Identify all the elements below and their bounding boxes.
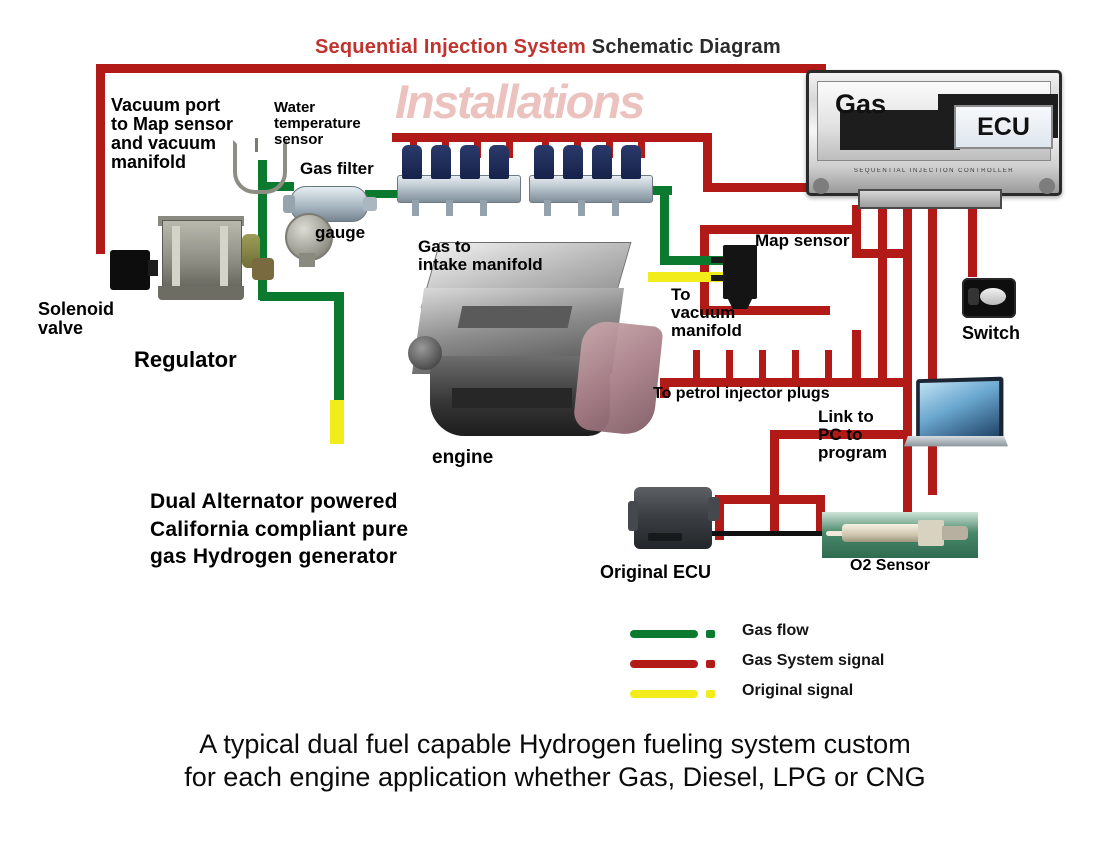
- label-to-vacuum-manifold: To vacuum manifold: [671, 286, 742, 340]
- gas-nozzle-1: [412, 200, 419, 216]
- label-link-to-pc: Link to PC to program: [818, 408, 887, 462]
- gas-injector-6: [563, 145, 583, 179]
- gas-nozzle-2: [446, 200, 453, 216]
- label-to-petrol-injector-plugs: To petrol injector plugs: [653, 386, 830, 403]
- solenoid-valve-photo: [110, 250, 150, 290]
- red-wire-petrol-tap-4: [792, 350, 799, 380]
- ecu-name-label: ECU: [954, 105, 1053, 149]
- red-wire-petrol-tap-1: [693, 350, 700, 380]
- gas-filter-inlet: [283, 195, 295, 213]
- red-wire-oecu-feed-h: [715, 495, 825, 504]
- map-sensor-port-upper: [711, 257, 725, 263]
- ecu-connector-strip: [858, 189, 1002, 209]
- solenoid-stem: [148, 260, 158, 276]
- legend-dot-gas-system-signal: [706, 660, 715, 668]
- engine-accessory-lower: [452, 388, 572, 408]
- caption-dual-alternator: Dual Alternator powered California compl…: [150, 488, 408, 571]
- red-wire-petrol-tap-2: [726, 350, 733, 380]
- engine-pulley: [408, 336, 442, 370]
- legend-dot-original-signal: [706, 690, 715, 698]
- regulator-fitting-nut: [252, 258, 274, 280]
- gas-nozzle-6: [612, 200, 619, 216]
- legend-label-gas-flow: Gas flow: [742, 622, 809, 640]
- regulator-post-left: [172, 226, 180, 288]
- original-ecu-bracket-left: [628, 501, 638, 531]
- black-wire-oecu-to-o2: [705, 531, 825, 536]
- bottom-caption: A typical dual fuel capable Hydrogen fue…: [60, 728, 1050, 794]
- gas-nozzle-4: [544, 200, 551, 216]
- label-solenoid-valve: Solenoid valve: [38, 300, 114, 338]
- legend-label-gas-system-signal: Gas System signal: [742, 652, 884, 670]
- laptop-photo: [908, 378, 1004, 464]
- label-o2-sensor: O2 Sensor: [850, 558, 930, 575]
- laptop-keyboard-base: [904, 436, 1008, 446]
- water-temperature-sensor-photo: [233, 140, 283, 192]
- regulator-post-right: [220, 226, 228, 288]
- gauge-neck: [299, 253, 315, 267]
- title-red-part: Sequential Injection System: [315, 36, 586, 58]
- engine-exhaust-manifold: [572, 319, 663, 437]
- red-wire-petrol-tap-3: [759, 350, 766, 380]
- gas-injector-5: [534, 145, 554, 179]
- watermark-text: Installations: [395, 74, 815, 132]
- gas-injector-8: [621, 145, 641, 179]
- yellow-wire-generator-stub: [330, 400, 344, 444]
- red-wire-ecu-out-switch: [968, 205, 977, 277]
- regulator-base: [158, 286, 244, 300]
- red-wire-oecu-branch-v: [770, 430, 779, 535]
- gas-injector-1: [402, 145, 422, 179]
- red-wire-injector-bus: [392, 133, 712, 142]
- gas-injector-rail-bank-2: [529, 175, 653, 203]
- legend-swatch-gas-system-signal: [630, 660, 698, 668]
- gas-filter-outlet: [363, 197, 377, 211]
- o2-sensor-photo: [822, 512, 978, 558]
- gas-ecu-module[interactable]: Gas ECU SEQUENTIAL INJECTION CONTROLLER: [806, 70, 1062, 196]
- map-sensor-port-lower: [711, 275, 725, 281]
- gas-injector-3: [460, 145, 480, 179]
- red-wire-top-trunk: [96, 64, 826, 73]
- ecu-mount-tab-right: [1039, 178, 1055, 194]
- gas-injector-7: [592, 145, 612, 179]
- schematic-diagram-canvas: Sequential Injection System Schematic Di…: [0, 0, 1103, 842]
- legend: Gas flow Gas System signal Original sign…: [630, 622, 960, 712]
- label-gas-filter: Gas filter: [300, 160, 374, 178]
- wts-clamp: [233, 140, 287, 194]
- red-wire-injector-bus-to-ecu: [703, 183, 818, 192]
- gas-nozzle-3: [480, 200, 487, 216]
- label-engine: engine: [432, 448, 493, 468]
- red-wire-ecu-out-3: [903, 205, 912, 535]
- wts-lead: [255, 138, 258, 152]
- gas-nozzle-5: [578, 200, 585, 216]
- red-wire-ecu-out-2: [878, 205, 887, 385]
- legend-row-gas-system-signal: Gas System signal: [630, 652, 960, 682]
- original-ecu-bracket-right: [708, 497, 719, 521]
- regulator-photo: [148, 216, 278, 312]
- label-gauge: gauge: [315, 224, 365, 242]
- legend-row-original-signal: Original signal: [630, 682, 960, 712]
- o2-sensor-tip: [942, 526, 968, 540]
- switch-photo[interactable]: [962, 278, 1016, 318]
- gas-injector-2: [431, 145, 451, 179]
- original-ecu-photo: [634, 487, 712, 549]
- label-regulator: Regulator: [134, 348, 237, 371]
- gas-injector-4: [489, 145, 509, 179]
- label-water-temperature-sensor: Water temperature sensor: [274, 100, 361, 147]
- label-gas-to-intake-manifold: Gas to intake manifold: [418, 238, 543, 274]
- switch-button[interactable]: [968, 288, 979, 305]
- switch-indicator-led: [980, 288, 1006, 305]
- legend-dot-gas-flow: [706, 630, 715, 638]
- label-switch: Switch: [962, 324, 1020, 343]
- ecu-brand-label: Gas: [835, 89, 886, 120]
- legend-swatch-original-signal: [630, 690, 698, 698]
- legend-swatch-gas-flow: [630, 630, 698, 638]
- red-wire-petrol-tap-5: [825, 350, 832, 380]
- legend-row-gas-flow: Gas flow: [630, 622, 960, 652]
- ecu-footer-text: SEQUENTIAL INJECTION CONTROLLER: [823, 168, 1045, 182]
- original-ecu-connector: [648, 533, 682, 541]
- page-title: Sequential Injection System Schematic Di…: [315, 36, 781, 59]
- red-wire-petrol-tap-6: [852, 330, 861, 380]
- label-original-ecu: Original ECU: [600, 563, 711, 582]
- o2-sensor-hex-nut: [918, 520, 944, 546]
- label-vacuum-port: Vacuum port to Map sensor and vacuum man…: [111, 96, 233, 172]
- ecu-mount-tab-left: [813, 178, 829, 194]
- red-wire-left-trunk: [96, 64, 105, 254]
- engine-accessory-upper: [458, 306, 573, 328]
- laptop-screen: [916, 377, 1003, 444]
- label-map-sensor: Map sensor: [755, 232, 849, 250]
- gas-injector-rail-bank-1: [397, 175, 521, 203]
- title-dark-part: Schematic Diagram: [586, 36, 781, 58]
- legend-label-original-signal: Original signal: [742, 682, 853, 700]
